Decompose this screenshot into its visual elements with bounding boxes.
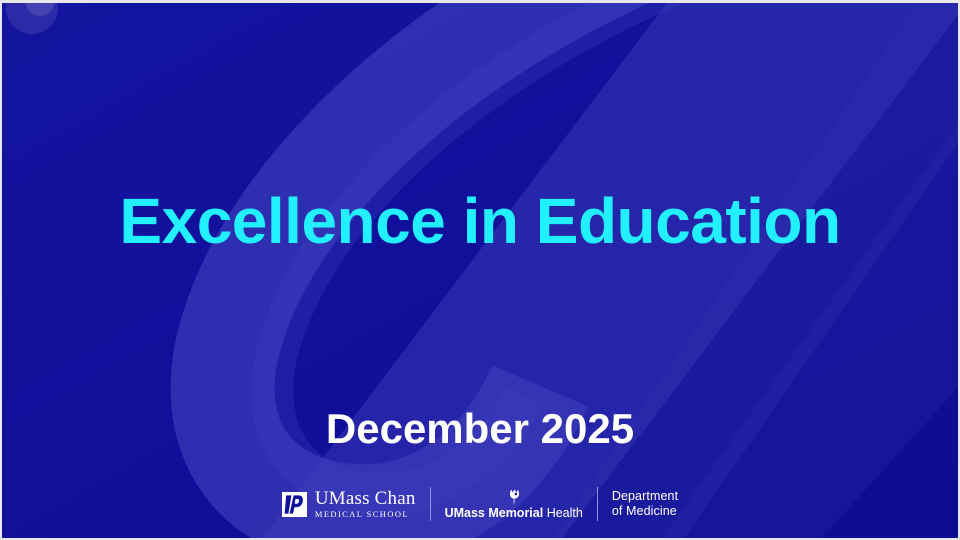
page-title: Excellence in Education: [0, 188, 960, 255]
umass-memorial-wordmark: UMass Memorial Health: [445, 507, 583, 520]
umass-chan-wordmark: UMass Chan MEDICAL SCHOOL: [315, 489, 416, 519]
umass-chan-shield-icon: [282, 492, 307, 517]
department-of-medicine-logo: Department of Medicine: [598, 482, 692, 526]
umass-memorial-name-light: Health: [543, 506, 583, 520]
umass-chan-logo: UMass Chan MEDICAL SCHOOL: [268, 482, 430, 526]
umass-chan-subtitle: MEDICAL SCHOOL: [315, 510, 416, 519]
umass-memorial-name-bold: UMass Memorial: [445, 506, 544, 520]
logo-divider-1: [430, 487, 431, 521]
department-line-1: Department: [612, 489, 678, 504]
logo-divider-2: [597, 487, 598, 521]
umass-memorial-health-logo: UMass Memorial Health: [431, 482, 597, 526]
slide-date: December 2025: [0, 406, 960, 452]
tulip-icon: [506, 489, 522, 506]
background-swoosh-artwork: [0, 0, 960, 540]
department-line-2: of Medicine: [612, 504, 677, 519]
title-slide: Excellence in Education December 2025 UM…: [0, 0, 960, 540]
logo-lockup: UMass Chan MEDICAL SCHOOL UMass Memorial…: [0, 482, 960, 526]
umass-chan-name: UMass Chan: [315, 489, 416, 508]
